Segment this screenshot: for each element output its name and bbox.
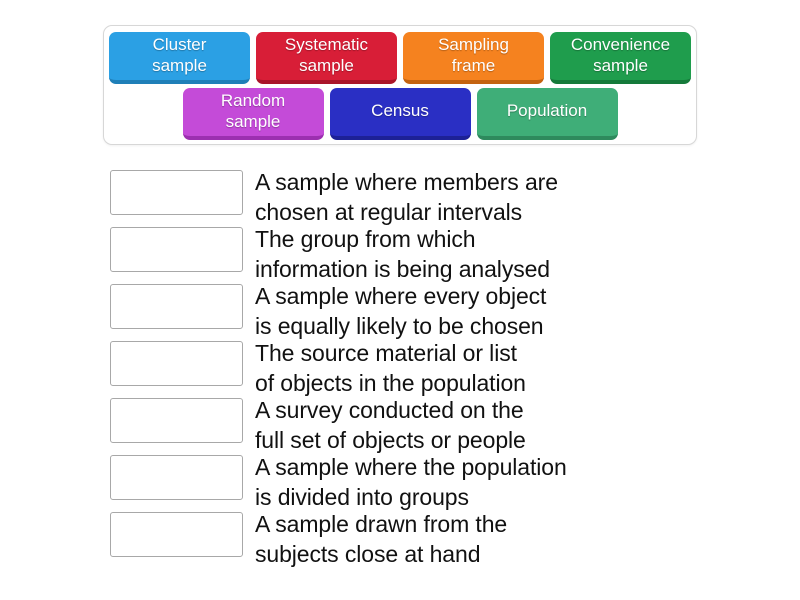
answer-definition-7: A sample drawn from the subjects close a…: [255, 510, 730, 569]
word-tile-sampling-frame[interactable]: Sampling frame: [403, 32, 544, 84]
drop-box-3[interactable]: [110, 284, 243, 329]
answer-row: A sample where every object is equally l…: [110, 282, 730, 339]
word-bank-row-2: Random sample Census Population: [104, 84, 696, 140]
answer-row: The group from which information is bein…: [110, 225, 730, 282]
drop-box-7[interactable]: [110, 512, 243, 557]
answer-definition-6: A sample where the population is divided…: [255, 453, 730, 512]
answer-definition-2: The group from which information is bein…: [255, 225, 730, 284]
answer-definition-3: A sample where every object is equally l…: [255, 282, 730, 341]
word-tile-population[interactable]: Population: [477, 88, 618, 140]
drop-box-2[interactable]: [110, 227, 243, 272]
word-bank-row-1: Cluster sample Systematic sample Samplin…: [104, 26, 696, 84]
drop-box-1[interactable]: [110, 170, 243, 215]
drop-box-5[interactable]: [110, 398, 243, 443]
answer-row: A sample where members are chosen at reg…: [110, 168, 730, 225]
answer-row: A sample where the population is divided…: [110, 453, 730, 510]
answer-row: A survey conducted on the full set of ob…: [110, 396, 730, 453]
word-tile-convenience-sample[interactable]: Convenience sample: [550, 32, 691, 84]
answer-definition-1: A sample where members are chosen at reg…: [255, 168, 730, 227]
word-bank: Cluster sample Systematic sample Samplin…: [103, 25, 697, 145]
answer-row: A sample drawn from the subjects close a…: [110, 510, 730, 567]
drop-box-4[interactable]: [110, 341, 243, 386]
answer-definition-4: The source material or list of objects i…: [255, 339, 730, 398]
word-tile-census[interactable]: Census: [330, 88, 471, 140]
answer-list: A sample where members are chosen at reg…: [110, 168, 730, 567]
word-tile-cluster-sample[interactable]: Cluster sample: [109, 32, 250, 84]
word-tile-random-sample[interactable]: Random sample: [183, 88, 324, 140]
answer-row: The source material or list of objects i…: [110, 339, 730, 396]
word-tile-systematic-sample[interactable]: Systematic sample: [256, 32, 397, 84]
answer-definition-5: A survey conducted on the full set of ob…: [255, 396, 730, 455]
drop-box-6[interactable]: [110, 455, 243, 500]
